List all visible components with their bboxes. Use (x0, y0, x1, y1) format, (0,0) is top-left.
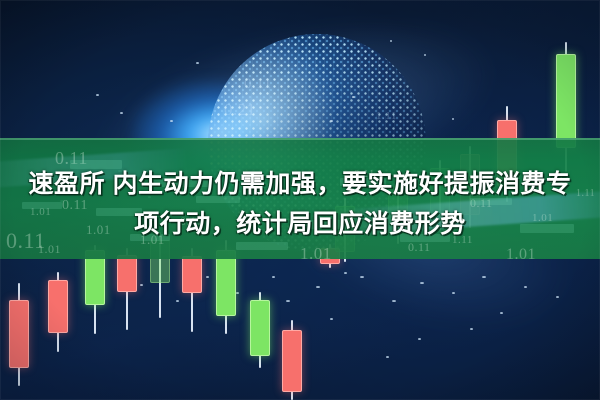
floating-speck (206, 276, 209, 278)
candlestick (182, 248, 202, 332)
candlestick (282, 320, 302, 400)
floating-speck (452, 118, 454, 120)
floating-speck (120, 112, 123, 114)
candle-body (9, 300, 29, 368)
headline-line-1-text: 速盈所 内生动力仍需加强，要实施好提振消费专 (29, 170, 572, 198)
floating-speck (272, 276, 275, 278)
candlestick (117, 248, 137, 330)
floating-speck (96, 94, 99, 96)
headline-line-2-text: 项行动，统计局回应消费形势 (134, 210, 466, 238)
floating-speck (418, 338, 421, 340)
headline-line-2: 项行动，统计局回应消费形势 (0, 204, 600, 244)
candle-body (182, 256, 202, 293)
floating-speck (452, 292, 455, 294)
candlestick (250, 292, 270, 368)
candle-body (556, 54, 576, 148)
candle-body (282, 330, 302, 392)
floating-speck (286, 300, 290, 302)
floating-speck (176, 300, 179, 302)
candle-body (117, 255, 137, 292)
floating-speck (390, 40, 392, 42)
floating-speck (482, 276, 486, 278)
floating-speck (352, 96, 355, 98)
candlestick (48, 272, 68, 352)
floating-speck (316, 286, 320, 288)
floating-speck (170, 120, 173, 122)
floating-speck (140, 284, 143, 286)
candle-body (216, 250, 236, 316)
floating-speck (330, 120, 333, 122)
floating-speck (236, 292, 239, 294)
candle-body (48, 280, 68, 333)
floating-speck (524, 286, 527, 288)
floating-speck (556, 296, 559, 298)
floating-speck (392, 300, 396, 302)
floating-speck (420, 282, 424, 284)
floating-speck (500, 312, 503, 314)
floating-speck (360, 276, 364, 278)
band-top-edge (0, 138, 600, 140)
floating-speck (196, 62, 199, 64)
floating-speck (386, 356, 389, 358)
floating-speck (344, 272, 347, 274)
floating-speck (470, 328, 473, 330)
candlestick (9, 283, 29, 386)
floating-speck (330, 318, 333, 320)
headline-line-1: 速盈所 内生动力仍需加强，要实施好提振消费专 (0, 164, 600, 204)
promo-banner-image: 0.210.111.11 0.110.110.111.011.011.011.0… (0, 0, 600, 400)
floating-speck (424, 54, 426, 56)
candle-body (250, 300, 270, 356)
